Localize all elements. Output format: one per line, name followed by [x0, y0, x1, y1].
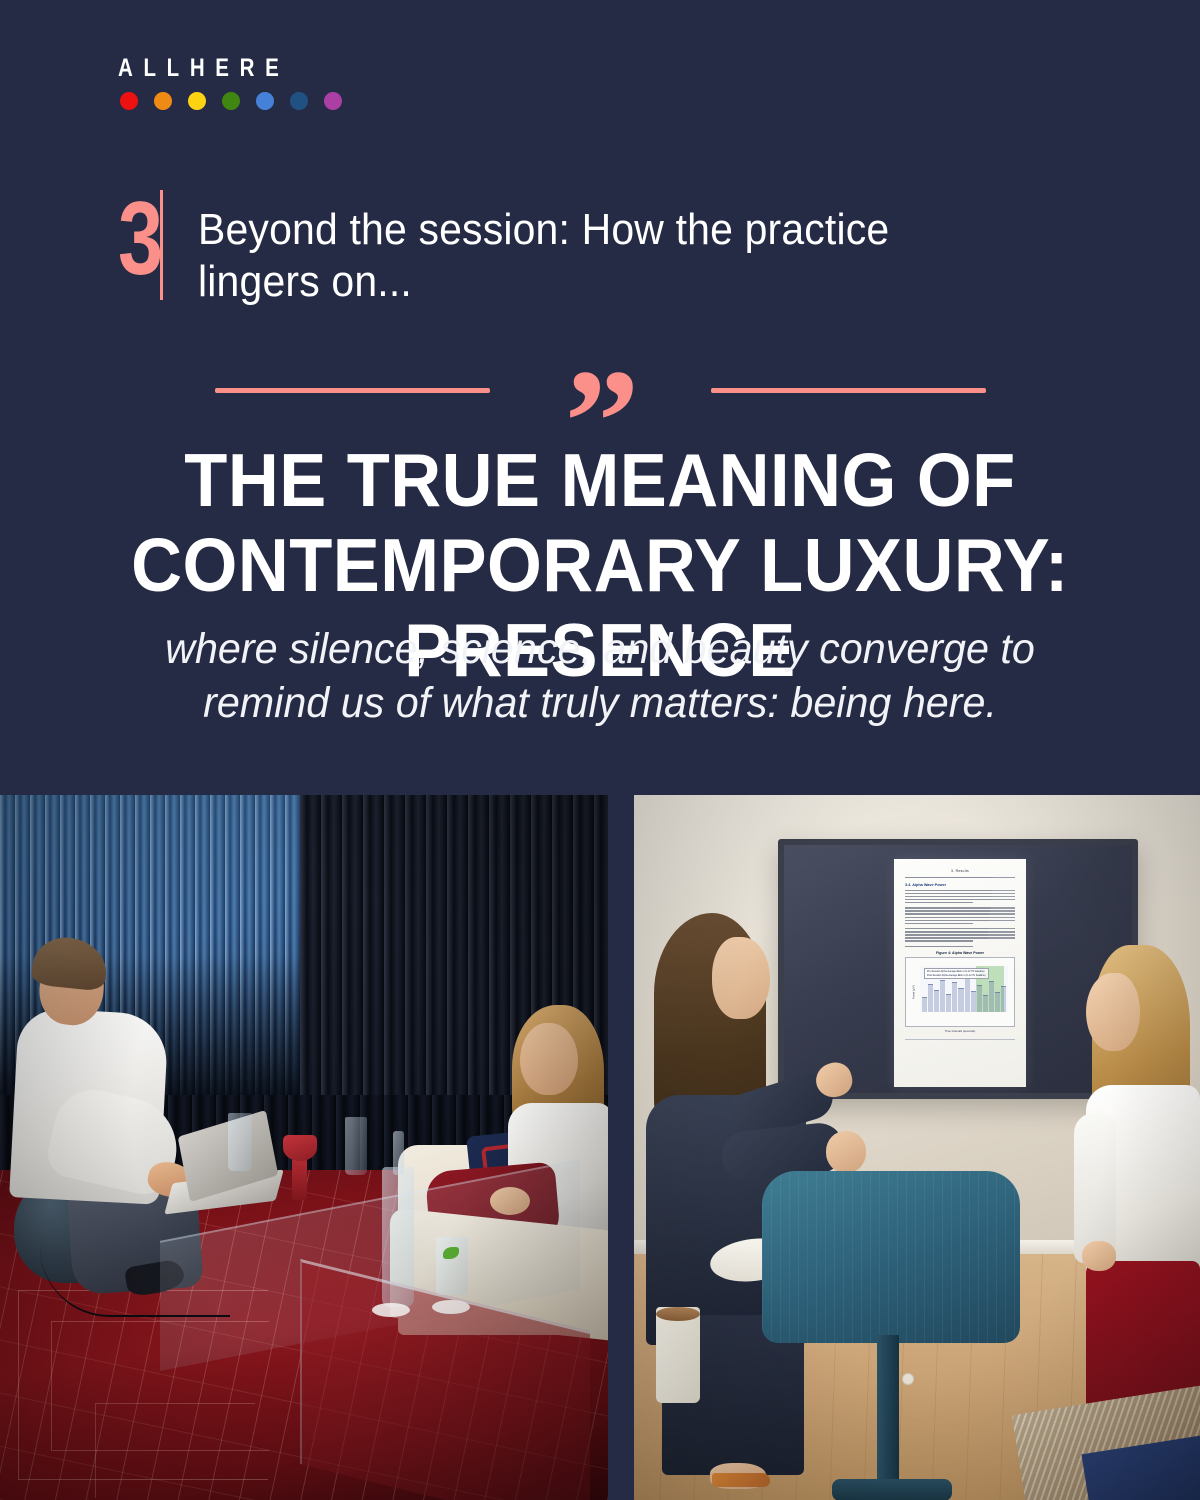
presentation-scene: 3. Results 3.4. Alpha Wave Power — [634, 795, 1200, 1500]
dot-yellow-icon — [188, 92, 206, 110]
dot-purple-icon — [324, 92, 342, 110]
quote-ornament: ” — [0, 355, 1200, 425]
brand-wordmark: ALLHERE — [118, 56, 302, 81]
section-header: 3 Beyond the session: How the practice l… — [118, 190, 988, 308]
presentation-vignette — [634, 795, 1200, 1500]
photo-lounge-session — [0, 795, 608, 1500]
subheadline-line-1: where silence, science, and beauty conve… — [165, 625, 1035, 673]
headline-line-1: THE TRUE MEANING OF — [184, 438, 1015, 522]
dot-green-icon — [222, 92, 240, 110]
section-title: Beyond the session: How the practice lin… — [198, 190, 933, 308]
dot-red-icon — [120, 92, 138, 110]
dot-light-blue-icon — [256, 92, 274, 110]
section-number: 3 — [118, 190, 162, 289]
ornament-rule-right — [711, 388, 986, 393]
brand-dot-row — [120, 92, 342, 110]
brand-logo: ALLHERE — [118, 56, 342, 110]
dot-orange-icon — [154, 92, 172, 110]
subheadline: where silence, science, and beauty conve… — [24, 622, 1176, 730]
photo-presentation: 3. Results 3.4. Alpha Wave Power — [634, 795, 1200, 1500]
ornament-rule-left — [215, 388, 490, 393]
dot-dark-blue-icon — [290, 92, 308, 110]
lounge-scene — [0, 795, 608, 1500]
subheadline-line-2: remind us of what truly matters: being h… — [203, 679, 997, 727]
lounge-vignette — [0, 795, 608, 1500]
photo-row: 3. Results 3.4. Alpha Wave Power — [0, 795, 1200, 1500]
